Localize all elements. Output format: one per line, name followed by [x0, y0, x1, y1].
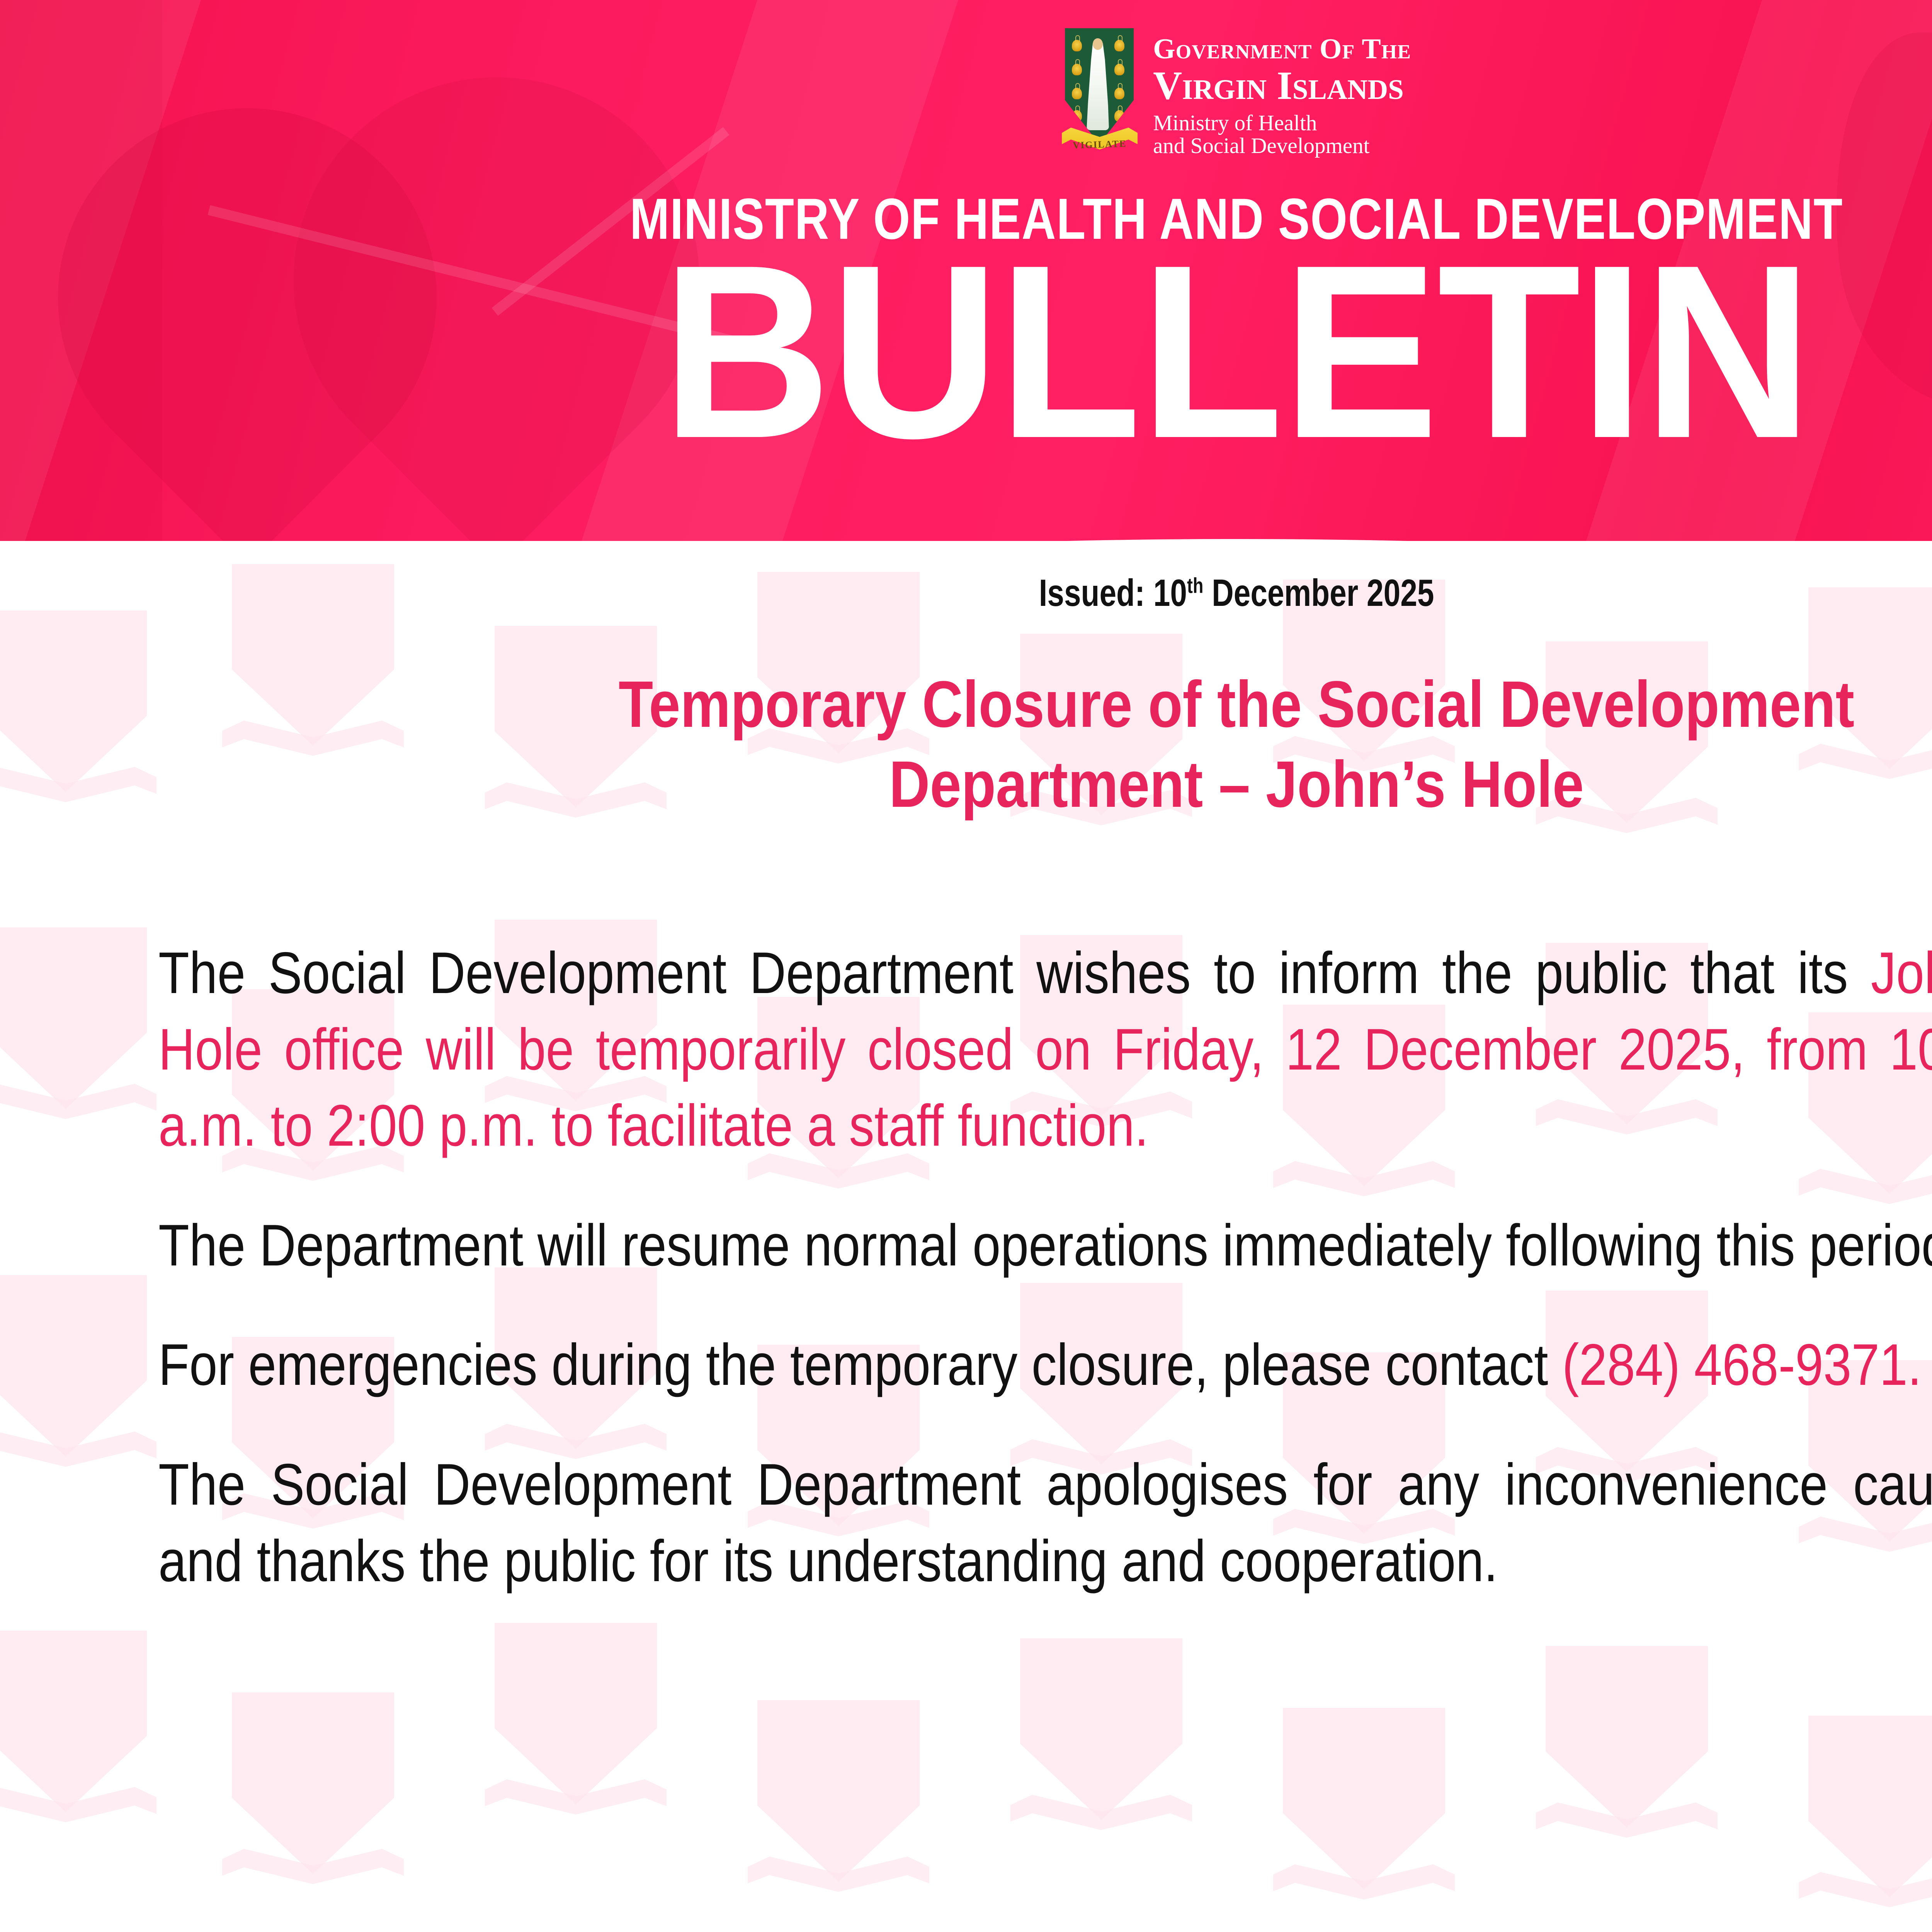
- logo-line-4: and Social Development: [1153, 135, 1411, 157]
- bulletin-body: The Social Development Department wishes…: [158, 935, 1932, 1599]
- body-paragraph: The Social Development Department apolog…: [158, 1447, 1932, 1599]
- header-band: VIGILATE Government of the Virgin Island…: [0, 0, 1932, 587]
- body-text-run: The Social Development Department apolog…: [158, 1452, 1932, 1594]
- crest-motto: VIGILATE: [1062, 138, 1138, 152]
- headline-line-1: Temporary Closure of the Social Developm…: [406, 665, 1932, 745]
- crest-maiden-head: [1093, 38, 1103, 50]
- bulletin-content: Issued: 10th December 2025 Temporary Clo…: [0, 541, 1932, 1932]
- government-logo: VIGILATE Government of the Virgin Island…: [0, 15, 1932, 177]
- issued-date: Issued: 10th December 2025: [247, 571, 1932, 615]
- headline-line-2: Department – John’s Hole: [406, 745, 1932, 825]
- issued-ordinal: th: [1187, 573, 1203, 597]
- issued-prefix: Issued: 10: [1039, 571, 1187, 614]
- body-text-run: The Department will resume normal operat…: [158, 1213, 1932, 1278]
- issued-suffix: December 2025: [1203, 571, 1434, 614]
- body-text-run: For emergencies during the temporary clo…: [158, 1332, 1562, 1398]
- logo-line-2: Virgin Islands: [1153, 66, 1411, 106]
- logo-text-block: Government of the Virgin Islands Ministr…: [1153, 35, 1411, 157]
- body-paragraph: The Department will resume normal operat…: [158, 1207, 1932, 1284]
- body-paragraph: For emergencies during the temporary clo…: [158, 1327, 1932, 1403]
- logo-line-3: Ministry of Health: [1153, 112, 1411, 134]
- logo-line-1: Government of the: [1153, 35, 1411, 63]
- page-title: Temporary Closure of the Social Developm…: [406, 665, 1932, 825]
- bulletin-title: BULLETIN: [62, 228, 1932, 475]
- body-paragraph: The Social Development Department wishes…: [158, 935, 1932, 1164]
- body-text-run: (284) 468-9371.: [1562, 1332, 1922, 1398]
- coat-of-arms-crest-icon: VIGILATE: [1062, 28, 1138, 163]
- body-text-run: The Social Development Department wishes…: [158, 940, 1871, 1006]
